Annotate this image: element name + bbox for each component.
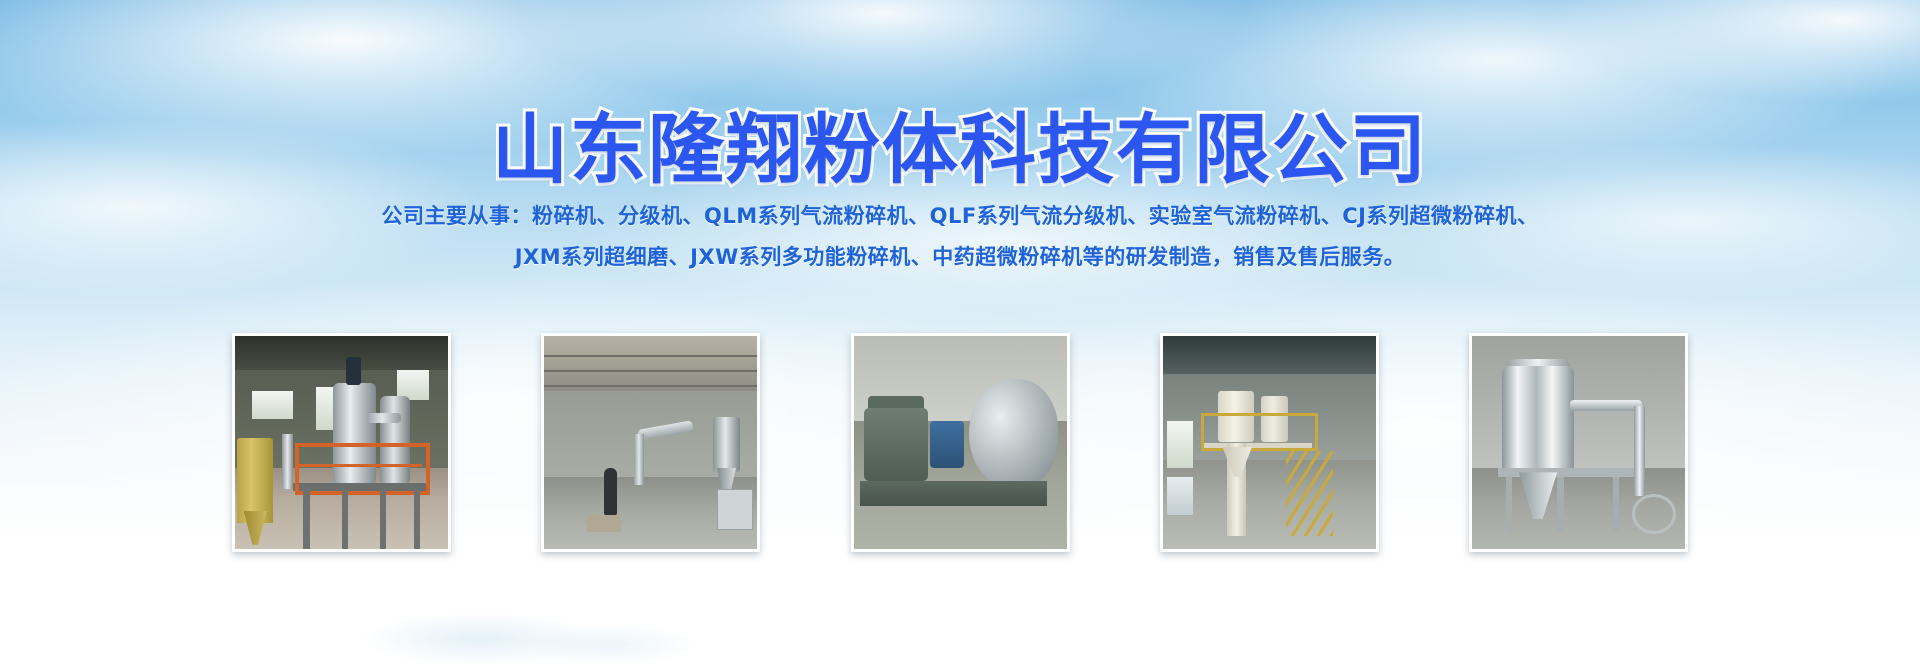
support-leg	[380, 489, 386, 549]
gallery-photo-2[interactable]	[541, 333, 760, 552]
cyclone-separator	[713, 417, 741, 472]
duct-pipe	[282, 434, 293, 489]
gallery-photo-1[interactable]	[232, 333, 451, 552]
transfer-pipe	[1570, 400, 1642, 411]
photo-5-scene	[1472, 336, 1685, 549]
yellow-handrail	[1201, 413, 1318, 451]
access-stairway	[1286, 451, 1333, 536]
cloud-wisp-right	[520, 624, 700, 666]
window	[1167, 421, 1193, 468]
support-leg	[1613, 477, 1619, 532]
workshop-roof	[235, 336, 448, 370]
roof-truss	[544, 385, 757, 387]
company-title: 山东隆翔粉体科技有限公司	[0, 105, 1920, 195]
cloud-wisp-left	[360, 612, 600, 666]
gallery-photo-5[interactable]	[1469, 333, 1688, 552]
support-leg	[342, 489, 348, 549]
photo-1-scene	[235, 336, 448, 549]
stainless-vessel	[1502, 366, 1574, 473]
roof-truss	[544, 370, 757, 372]
gallery-photo-4[interactable]	[1160, 333, 1379, 552]
duct-pipe	[634, 434, 645, 485]
coupling-gearbox	[930, 421, 964, 468]
support-leg	[414, 489, 420, 549]
motor	[346, 357, 361, 385]
photo-4-scene	[1163, 336, 1376, 549]
gallery-photo-3[interactable]	[851, 333, 1070, 552]
grinder-machine	[717, 489, 753, 529]
duct-pipe	[367, 413, 401, 424]
window	[1167, 477, 1193, 515]
yellow-silo	[237, 438, 273, 523]
window	[252, 391, 292, 419]
pallet-crate	[587, 515, 621, 532]
machine-base	[860, 481, 1047, 507]
roof-truss	[544, 355, 757, 357]
support-leg	[1506, 477, 1512, 532]
support-leg	[1557, 477, 1563, 532]
support-leg	[303, 489, 309, 549]
workshop-roof	[544, 336, 757, 391]
product-photo-gallery	[232, 333, 1688, 558]
orange-handrail-bar	[295, 464, 423, 467]
photo-2-scene	[544, 336, 757, 549]
worker	[604, 468, 617, 515]
electric-motor	[864, 408, 928, 480]
workshop-roof	[1163, 336, 1376, 374]
valve-manifold	[1632, 494, 1676, 534]
description-line-2: JXM系列超细磨、JXW系列多功能粉碎机、中药超微粉碎机等的研发制造，销售及售后…	[0, 237, 1920, 278]
support-frame	[1498, 468, 1634, 477]
company-description: 公司主要从事：粉碎机、分级机、QLM系列气流粉碎机、QLF系列气流分级机、实验室…	[0, 196, 1920, 278]
workshop-floor	[1163, 460, 1376, 549]
photo-3-scene	[854, 336, 1067, 549]
transfer-pipe	[1634, 406, 1645, 495]
blower-housing	[969, 379, 1058, 490]
hero-banner: 山东隆翔粉体科技有限公司 公司主要从事：粉碎机、分级机、QLM系列气流粉碎机、Q…	[0, 0, 1920, 667]
description-line-1: 公司主要从事：粉碎机、分级机、QLM系列气流粉碎机、QLF系列气流分级机、实验室…	[0, 196, 1920, 237]
orange-handrail	[295, 443, 431, 496]
